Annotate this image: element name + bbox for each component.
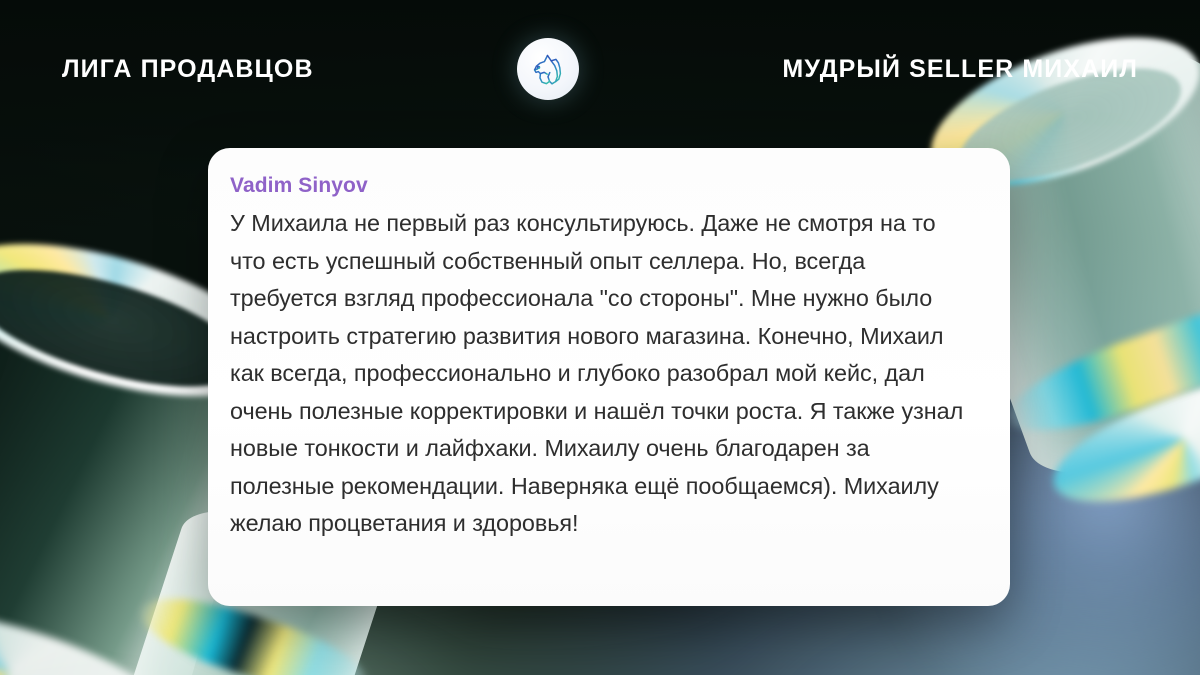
review-author-name: Vadim Sinyov [230,174,976,198]
page-header: ЛИГА ПРОДАВЦОВ МУДРЫЙ SELLER МИХАИЛ [0,0,1200,138]
header-right-title: МУДРЫЙ SELLER МИХАИЛ [782,55,1138,84]
header-left-title: ЛИГА ПРОДАВЦОВ [62,55,314,84]
review-message-text: У Михаила не первый раз консультируюсь. … [230,205,976,543]
review-card: Vadim Sinyov У Михаила не первый раз кон… [208,148,1010,606]
wolf-head-logo-icon [517,38,579,100]
